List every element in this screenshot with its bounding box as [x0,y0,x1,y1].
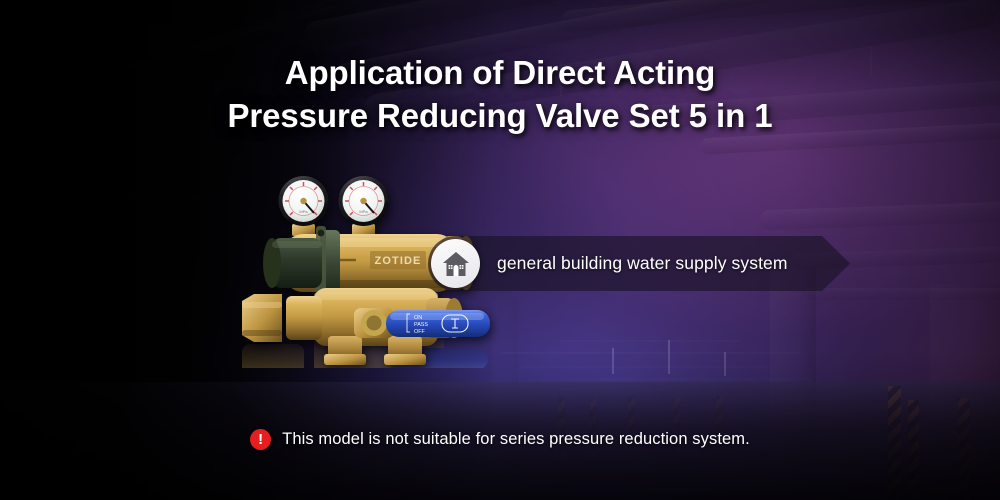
warning-text: This model is not suitable for series pr… [282,430,750,449]
application-callout[interactable]: general building water supply system [428,236,850,291]
house-icon [431,239,480,288]
promo-banner: ZOTIDE [0,0,1000,500]
callout-label: general building water supply system [497,253,788,274]
svg-text:MPa: MPa [299,209,308,214]
title-line-1: Application of Direct Acting [0,52,1000,95]
handle-label-on: ON [414,315,422,321]
svg-text:MPa: MPa [359,209,368,214]
outlet-pressure-gauge: MPa [339,176,389,226]
exclamation-circle-icon: ! [250,429,271,450]
ball-valve-handle: ON PASS OFF [386,310,490,337]
product-brand-text: ZOTIDE [375,255,422,267]
inlet-pressure-gauge: MPa [279,176,329,226]
title-line-2: Pressure Reducing Valve Set 5 in 1 [0,95,1000,138]
handle-label-pass: PASS [414,322,428,328]
handle-label-off: OFF [414,329,425,335]
warning-note: ! This model is not suitable for series … [0,429,1000,450]
page-title: Application of Direct Acting Pressure Re… [0,52,1000,138]
